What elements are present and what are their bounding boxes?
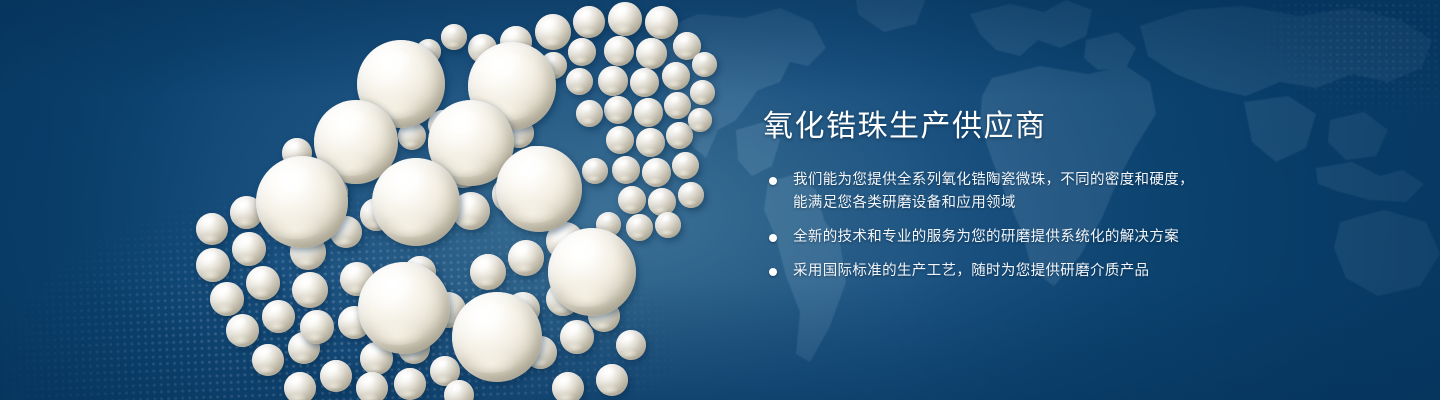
bullet-line: 采用国际标准的生产工艺，随时为您提供研磨介质产品 <box>793 260 1233 283</box>
feature-bullet-list: 我们能为您提供全系列氧化锆陶瓷微珠，不同的密度和硬度， 能满足您各类研磨设备和应… <box>763 169 1233 283</box>
bullet-dot-icon <box>769 234 777 242</box>
bullet-line: 我们能为您提供全系列氧化锆陶瓷微珠，不同的密度和硬度， <box>793 169 1233 192</box>
banner-text-block: 氧化锆珠生产供应商 我们能为您提供全系列氧化锆陶瓷微珠，不同的密度和硬度， 能满… <box>763 108 1233 283</box>
hero-banner: 氧化锆珠生产供应商 我们能为您提供全系列氧化锆陶瓷微珠，不同的密度和硬度， 能满… <box>0 0 1440 400</box>
list-item: 全新的技术和专业的服务为您的研磨提供系统化的解决方案 <box>763 226 1233 249</box>
bullet-line: 全新的技术和专业的服务为您的研磨提供系统化的解决方案 <box>793 226 1233 249</box>
list-item: 采用国际标准的生产工艺，随时为您提供研磨介质产品 <box>763 260 1233 283</box>
bullet-line: 能满足您各类研磨设备和应用领域 <box>793 192 1233 215</box>
page-title: 氧化锆珠生产供应商 <box>763 108 1233 146</box>
list-item: 我们能为您提供全系列氧化锆陶瓷微珠，不同的密度和硬度， 能满足您各类研磨设备和应… <box>763 169 1233 215</box>
bullet-dot-icon <box>769 177 777 185</box>
bullet-dot-icon <box>769 268 777 276</box>
